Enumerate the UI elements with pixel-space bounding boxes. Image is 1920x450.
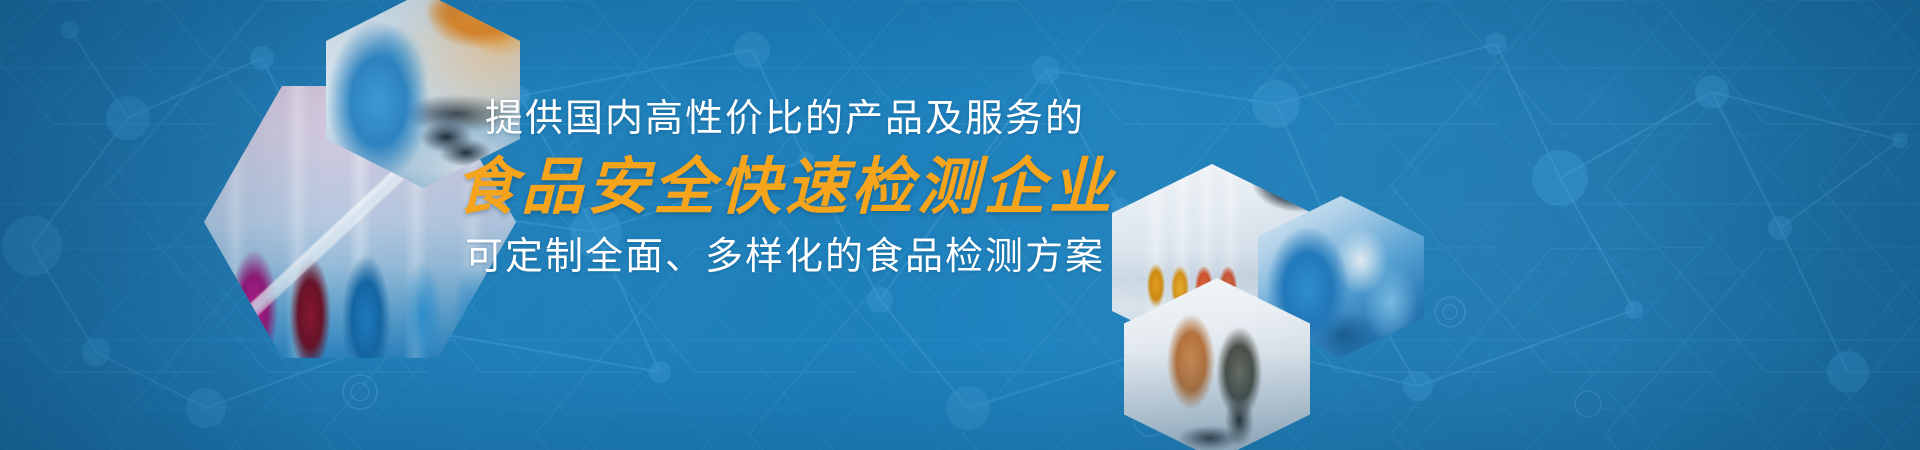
promo-banner: 提供国内高性价比的产品及服务的 食品安全快速检测企业 可定制全面、多样化的食品检… xyxy=(0,0,1920,450)
